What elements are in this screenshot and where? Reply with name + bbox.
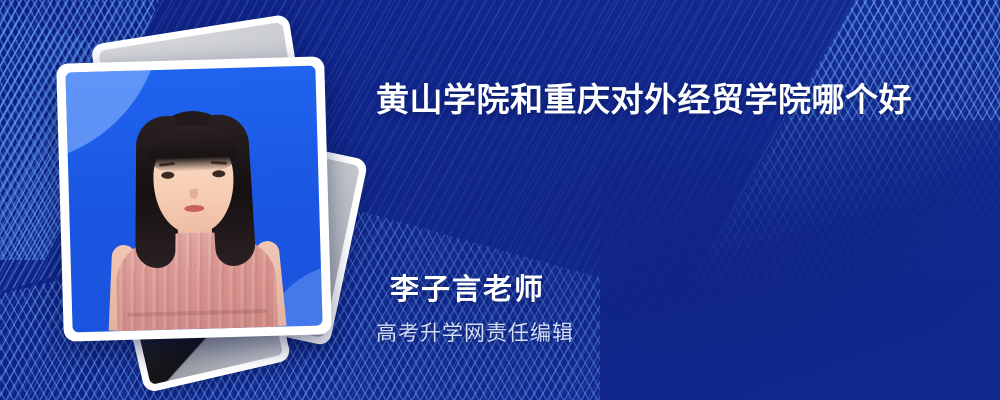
- text-column: 黄山学院和重庆对外经贸学院哪个好 李子言老师 高考升学网责任编辑: [376, 0, 956, 400]
- author-photo-card: [56, 56, 332, 341]
- article-headline: 黄山学院和重庆对外经贸学院哪个好: [376, 74, 948, 126]
- author-role: 高考升学网责任编辑: [376, 321, 574, 347]
- author-name: 李子言老师: [390, 272, 574, 308]
- portrait-illustration: [99, 94, 289, 331]
- photo-card-stack: [60, 28, 350, 358]
- article-cover-banner: 黄山学院和重庆对外经贸学院哪个好 李子言老师 高考升学网责任编辑: [0, 0, 1000, 400]
- author-photo: [65, 66, 322, 333]
- author-byline: 李子言老师 高考升学网责任编辑: [390, 272, 574, 347]
